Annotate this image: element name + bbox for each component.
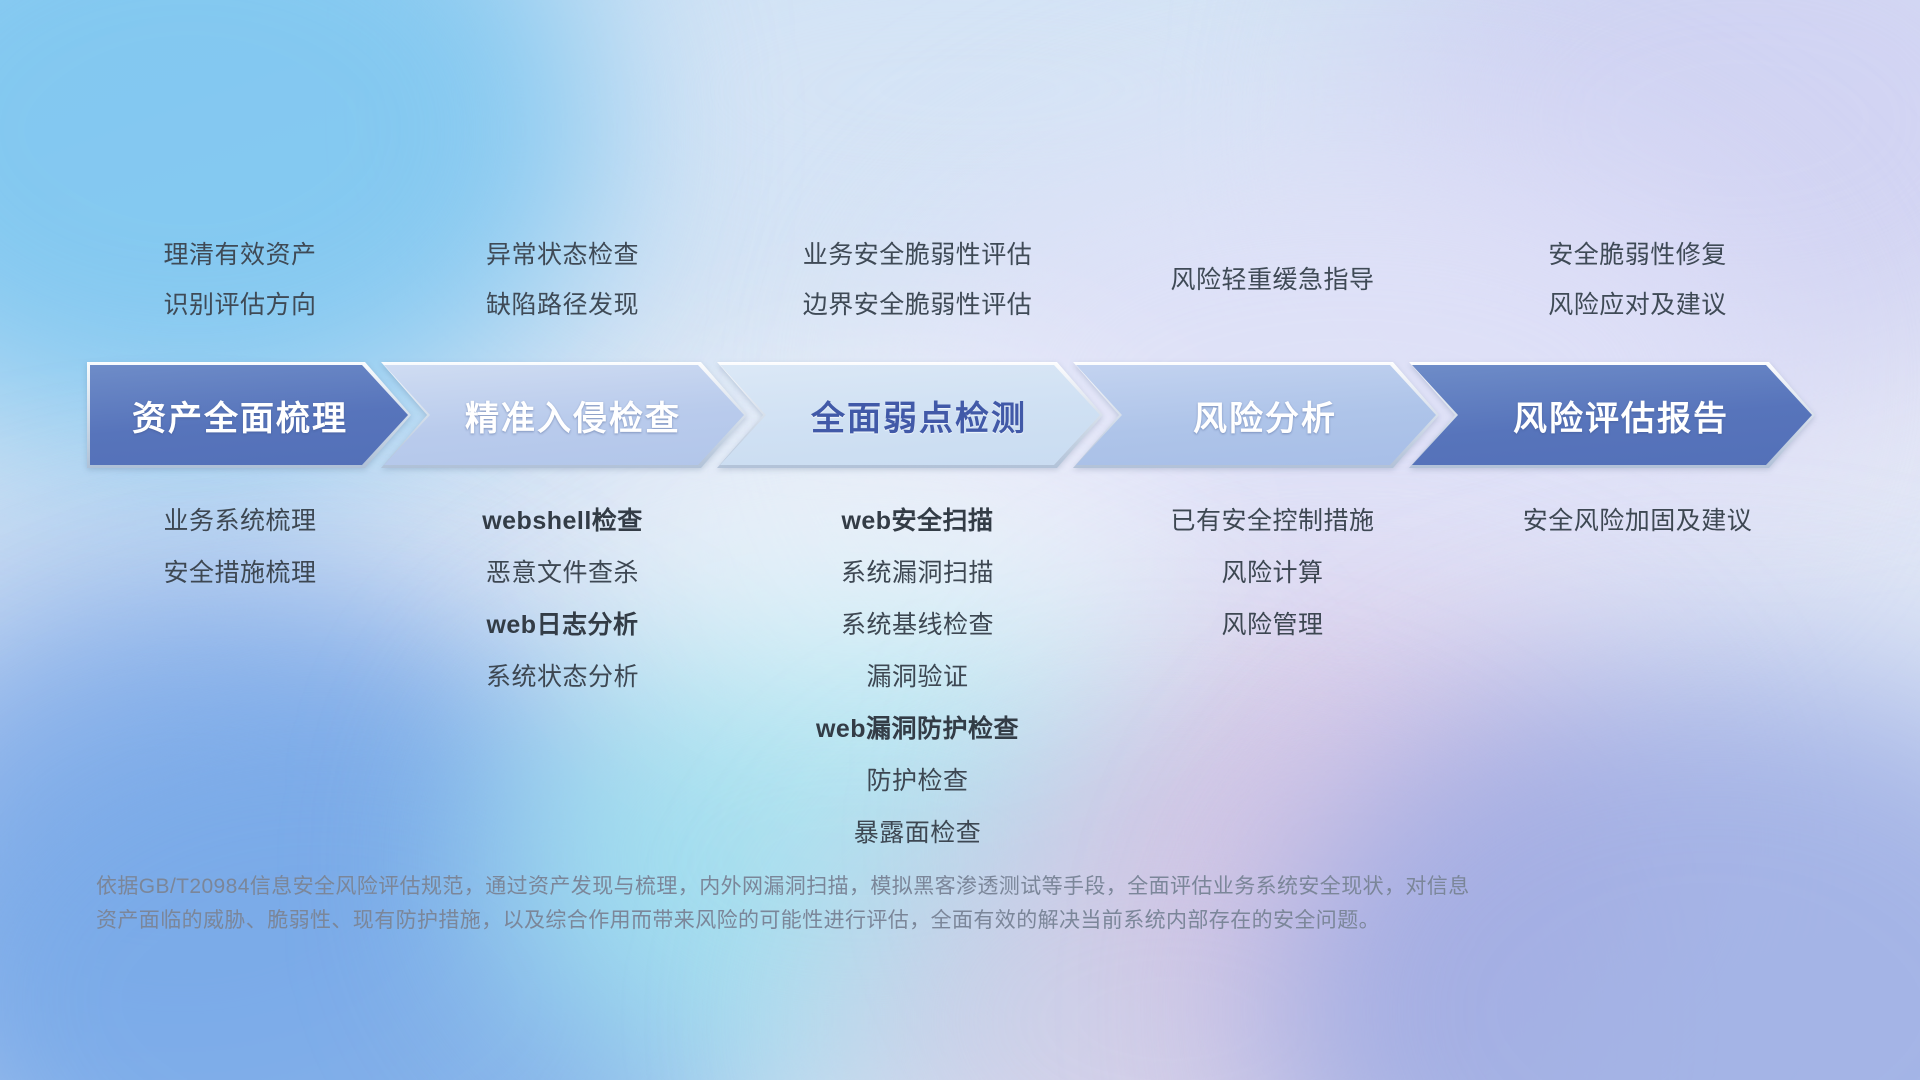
upper-note: 理清有效资产 bbox=[90, 230, 390, 280]
upper-notes-asset-inventory: 理清有效资产 识别评估方向 bbox=[90, 230, 390, 330]
upper-note: 风险轻重缓急指导 bbox=[1100, 255, 1445, 305]
list-item: 风险计算 bbox=[1100, 547, 1445, 599]
process-chevron-band: 资产全面梳理 精准入侵检查 全面弱点检测 风险分析 风险评估报告 bbox=[90, 365, 1850, 465]
stage-label: 精准入侵检查 bbox=[447, 391, 681, 440]
list-item: web安全扫描 bbox=[735, 495, 1100, 547]
stage-chevron-risk-analysis[interactable]: 风险分析 bbox=[1076, 365, 1436, 465]
footer-description: 依据GB/T20984信息安全风险评估规范，通过资产发现与梳理，内外网漏洞扫描，… bbox=[96, 870, 1696, 938]
upper-note: 异常状态检查 bbox=[390, 230, 735, 280]
footer-line-1: 依据GB/T20984信息安全风险评估规范，通过资产发现与梳理，内外网漏洞扫描，… bbox=[96, 870, 1696, 904]
list-item: 系统基线检查 bbox=[735, 599, 1100, 651]
lower-items-assessment-report: 安全风险加固及建议 bbox=[1445, 495, 1830, 859]
list-item: 业务系统梳理 bbox=[90, 495, 390, 547]
list-item: web漏洞防护检查 bbox=[735, 703, 1100, 755]
list-item: 风险管理 bbox=[1100, 599, 1445, 651]
upper-note: 边界安全脆弱性评估 bbox=[735, 280, 1100, 330]
upper-note: 风险应对及建议 bbox=[1445, 280, 1830, 330]
list-item: web日志分析 bbox=[390, 599, 735, 651]
list-item: 安全措施梳理 bbox=[90, 547, 390, 599]
lower-items-row: 业务系统梳理 安全措施梳理 webshell检查 恶意文件查杀 web日志分析 … bbox=[90, 495, 1830, 859]
upper-notes-assessment-report: 安全脆弱性修复 风险应对及建议 bbox=[1445, 230, 1830, 330]
upper-notes-weakness-detection: 业务安全脆弱性评估 边界安全脆弱性评估 bbox=[735, 230, 1100, 330]
list-item: 暴露面检查 bbox=[735, 807, 1100, 859]
list-item: 防护检查 bbox=[735, 755, 1100, 807]
list-item: 恶意文件查杀 bbox=[390, 547, 735, 599]
stage-label: 全面弱点检测 bbox=[793, 391, 1027, 440]
list-item: 漏洞验证 bbox=[735, 651, 1100, 703]
stage-label: 资产全面梳理 bbox=[132, 391, 366, 440]
lower-items-risk-analysis: 已有安全控制措施 风险计算 风险管理 bbox=[1100, 495, 1445, 859]
upper-note: 安全脆弱性修复 bbox=[1445, 230, 1830, 280]
stage-chevron-asset-inventory[interactable]: 资产全面梳理 bbox=[90, 365, 408, 465]
lower-items-asset-inventory: 业务系统梳理 安全措施梳理 bbox=[90, 495, 390, 859]
list-item: 已有安全控制措施 bbox=[1100, 495, 1445, 547]
footer-line-2: 资产面临的威胁、脆弱性、现有防护措施，以及综合作用而带来风险的可能性进行评估，全… bbox=[96, 904, 1696, 938]
upper-notes-row: 理清有效资产 识别评估方向 异常状态检查 缺陷路径发现 业务安全脆弱性评估 边界… bbox=[90, 230, 1830, 330]
upper-note: 缺陷路径发现 bbox=[390, 280, 735, 330]
lower-items-weakness-detection: web安全扫描 系统漏洞扫描 系统基线检查 漏洞验证 web漏洞防护检查 防护检… bbox=[735, 495, 1100, 859]
upper-note: 识别评估方向 bbox=[90, 280, 390, 330]
lower-items-intrusion-check: webshell检查 恶意文件查杀 web日志分析 系统状态分析 bbox=[390, 495, 735, 859]
stage-label: 风险分析 bbox=[1175, 391, 1337, 440]
stage-chevron-intrusion-check[interactable]: 精准入侵检查 bbox=[384, 365, 744, 465]
upper-notes-risk-analysis: 风险轻重缓急指导 bbox=[1100, 230, 1445, 330]
upper-notes-intrusion-check: 异常状态检查 缺陷路径发现 bbox=[390, 230, 735, 330]
list-item: 系统状态分析 bbox=[390, 651, 735, 703]
stage-chevron-assessment-report[interactable]: 风险评估报告 bbox=[1412, 365, 1812, 465]
upper-note: 业务安全脆弱性评估 bbox=[735, 230, 1100, 280]
list-item: webshell检查 bbox=[390, 495, 735, 547]
list-item: 系统漏洞扫描 bbox=[735, 547, 1100, 599]
stage-label: 风险评估报告 bbox=[1495, 391, 1729, 440]
slide-canvas: 理清有效资产 识别评估方向 异常状态检查 缺陷路径发现 业务安全脆弱性评估 边界… bbox=[0, 0, 1920, 1080]
list-item: 安全风险加固及建议 bbox=[1445, 495, 1830, 547]
stage-chevron-weakness-detection[interactable]: 全面弱点检测 bbox=[720, 365, 1100, 465]
